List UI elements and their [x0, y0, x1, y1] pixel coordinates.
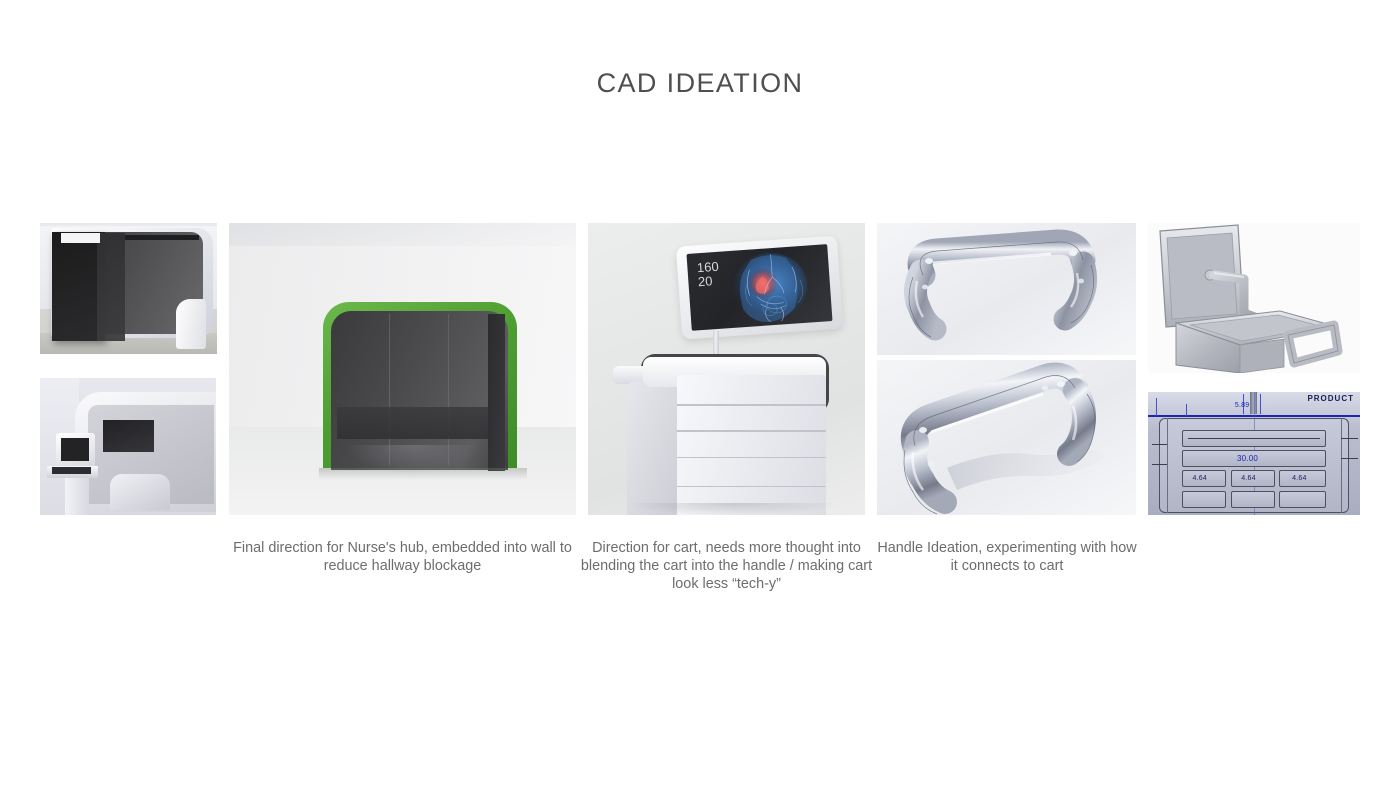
vital-primary: 160	[697, 259, 720, 274]
handle-cad-angled-icon	[877, 360, 1136, 515]
monitor-arm-cad-icon	[1148, 223, 1360, 373]
dimension-drawer-3: 4.64	[1292, 475, 1306, 482]
cart-drawer-stack	[677, 375, 827, 515]
handle-bottom-image	[877, 360, 1136, 515]
page-title: CAD IDEATION	[0, 68, 1400, 99]
dimension-line	[1260, 394, 1261, 414]
cart-drawer-seam	[677, 430, 827, 432]
kiosk-screen	[61, 438, 89, 461]
cart-side-panel	[627, 381, 677, 515]
dimension-line	[1156, 398, 1157, 416]
caption-handle: Handle Ideation, experimenting with how …	[872, 540, 1142, 576]
alcove-panel-seam	[389, 314, 390, 466]
cart-monitor: 160 20	[676, 235, 843, 339]
kiosk-keyboard	[52, 467, 91, 474]
drawing-title-text: PRODUCT	[1307, 394, 1354, 403]
alcove-post	[488, 314, 505, 472]
construction-line	[1167, 418, 1168, 513]
dimension-width: 30.00	[1237, 454, 1258, 463]
drawer-outline	[1279, 491, 1326, 508]
cart-drawer-seam	[677, 486, 827, 488]
booth-light-strip	[61, 233, 100, 242]
floor-shadow	[319, 468, 527, 480]
cart-drawer-seam	[677, 404, 827, 406]
dimension-tick	[1152, 444, 1167, 445]
handle-top-image	[877, 223, 1136, 355]
booth-glass-panel-right	[97, 233, 125, 340]
booth-seat-pod	[176, 299, 206, 349]
construction-line	[1341, 418, 1342, 513]
dimension-top: 5.89	[1235, 402, 1249, 409]
monitor-arm-image	[1148, 223, 1360, 373]
caption-hub: Final direction for Nurse's hub, embedde…	[229, 540, 576, 576]
wall-screen	[103, 420, 154, 452]
cad-ideation-slide: CAD IDEATION	[0, 0, 1400, 793]
vital-secondary: 20	[698, 273, 721, 288]
dimension-tick	[1152, 464, 1167, 465]
cad-drawing-image: PRODUCT 5.89 30.00 4.64 4.64 4.64	[1148, 392, 1360, 515]
caption-cart: Direction for cart, needs more thought i…	[573, 540, 880, 594]
cart-monitor-screen: 160 20	[687, 244, 833, 330]
kiosk-terminal	[56, 433, 95, 470]
dimension-drawer-2: 4.64	[1241, 475, 1255, 482]
dimension-drawer-1: 4.64	[1193, 475, 1207, 482]
dimension-tick	[1341, 458, 1358, 459]
dimension-line	[1186, 404, 1187, 416]
alcove-ledge	[337, 407, 500, 439]
alcove-panel-seam	[448, 314, 449, 466]
drawer-arrow	[1188, 438, 1319, 439]
cart-drawer-seam	[677, 457, 827, 459]
dimension-tick	[1341, 438, 1358, 439]
hub-light-thumb-image	[40, 378, 216, 515]
cart-render-image: 160 20	[588, 223, 865, 515]
hub-alcove-image	[229, 223, 576, 515]
cart-monitor-vitals: 160 20	[697, 259, 721, 288]
cart-shadow	[632, 503, 831, 515]
drawer-outline	[1182, 491, 1227, 508]
hub-bench	[110, 474, 170, 510]
hub-dark-thumb-image	[40, 223, 217, 354]
drawer-outline	[1231, 491, 1276, 508]
handle-cad-icon	[877, 223, 1136, 355]
